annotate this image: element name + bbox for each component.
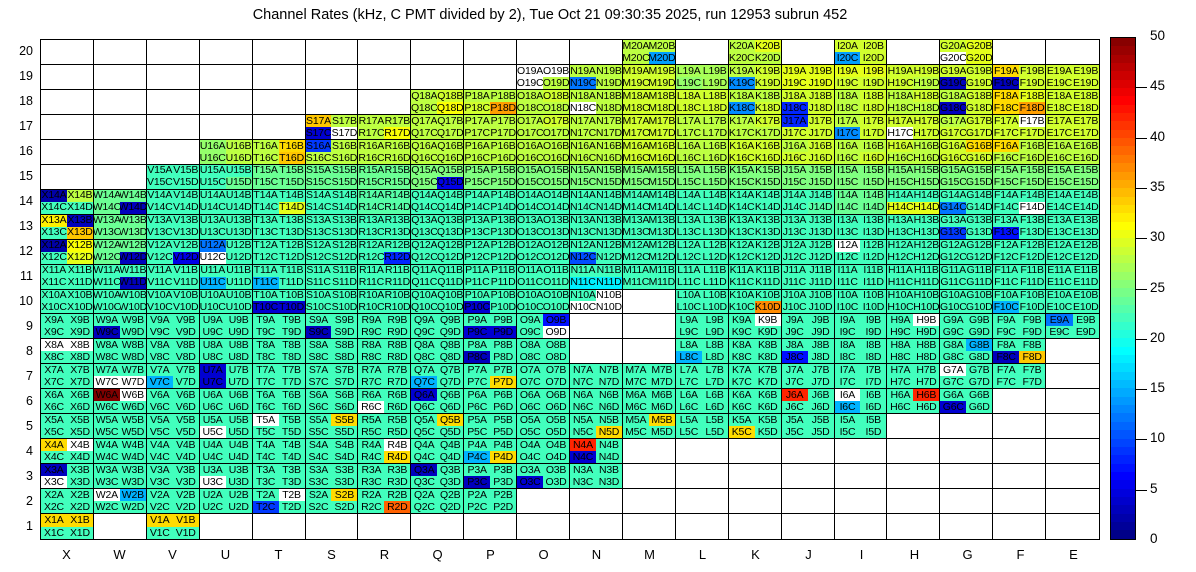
channel-O7A: O7A	[517, 364, 543, 376]
x-axis-label-O: O	[517, 547, 570, 562]
channel-P9B: P9B	[490, 314, 516, 326]
channel-U3C: U3C	[200, 476, 226, 488]
channel-empty	[676, 476, 702, 488]
channel-Q8D: Q8D	[437, 351, 463, 363]
heatmap-cell-K3	[729, 464, 782, 489]
channel-T15C: T15C	[253, 177, 279, 189]
heatmap-cell-S13: S13AS13BS13CS13D	[306, 215, 359, 240]
channel-M15B: M15B	[649, 165, 675, 177]
heatmap-cell-K14: K14AK14BK14CK14D	[729, 190, 782, 215]
channel-empty	[729, 489, 755, 501]
heatmap-cell-S10: S10AS10BS10CS10D	[306, 290, 359, 315]
heatmap-cell-P20	[464, 40, 517, 65]
channel-U13A: U13A	[200, 215, 226, 227]
channel-empty	[1073, 339, 1099, 351]
channel-K11C: K11C	[729, 277, 755, 289]
channel-T4A: T4A	[253, 439, 279, 451]
channel-G14D: G14D	[966, 202, 992, 214]
channel-empty	[993, 439, 1019, 451]
channel-K10A: K10A	[729, 290, 755, 302]
channel-empty	[358, 65, 384, 77]
colorbar-tick-mark	[1136, 439, 1147, 440]
channel-empty	[94, 52, 120, 64]
heatmap-cell-M19: M19AM19BM19CM19D	[623, 65, 676, 90]
heatmap-cell-S7: S7AS7BS7CS7D	[306, 364, 359, 389]
channel-G11D: G11D	[966, 277, 992, 289]
channel-empty	[808, 52, 834, 64]
heatmap-cell-X4: X4AX4BX4CX4D	[41, 439, 94, 464]
channel-F17C: F17C	[993, 127, 1019, 139]
channel-R5D: R5D	[384, 426, 410, 438]
heatmap-cell-J12: J12AJ12BJ12CJ12D	[782, 240, 835, 265]
channel-empty	[993, 527, 1019, 539]
channel-T16D: T16D	[279, 152, 305, 164]
channel-W4B: W4B	[120, 439, 146, 451]
channel-I8C: I8C	[835, 351, 861, 363]
heatmap-cell-Q7: Q7AQ7BQ7CQ7D	[411, 364, 464, 389]
channel-empty	[200, 40, 226, 52]
heatmap-cell-M6: M6AM6BM6CM6D	[623, 389, 676, 414]
channel-J12A: J12A	[782, 240, 808, 252]
channel-K5B: K5B	[755, 414, 781, 426]
channel-S13C: S13C	[306, 227, 332, 239]
channel-U6C: U6C	[200, 401, 226, 413]
channel-O15B: O15B	[543, 165, 569, 177]
channel-empty	[913, 52, 939, 64]
channel-W8D: W8D	[120, 351, 146, 363]
heatmap-cell-T15: T15AT15BT15CT15D	[253, 165, 306, 190]
channel-R14B: R14B	[384, 190, 410, 202]
channel-empty	[887, 52, 913, 64]
channel-H13D: H13D	[913, 227, 939, 239]
channel-empty	[702, 464, 728, 476]
channel-R10B: R10B	[384, 290, 410, 302]
channel-W14D: W14D	[120, 202, 146, 214]
channel-J5C: J5C	[782, 426, 808, 438]
channel-F14D: F14D	[1019, 202, 1045, 214]
channel-empty	[676, 451, 702, 463]
heatmap-cell-W15	[94, 165, 147, 190]
channel-U9D: U9D	[226, 326, 252, 338]
heatmap-cell-H15: H15AH15BH15CH15D	[887, 165, 940, 190]
channel-N12A: N12A	[570, 240, 596, 252]
channel-empty	[808, 489, 834, 501]
heatmap-cell-J2	[782, 489, 835, 514]
channel-empty	[808, 451, 834, 463]
channel-X3B: X3B	[67, 464, 93, 476]
channel-P7C: P7C	[464, 376, 490, 388]
channel-empty	[966, 439, 992, 451]
x-axis-label-K: K	[729, 547, 782, 562]
channel-X2B: X2B	[67, 489, 93, 501]
channel-U10B: U10B	[226, 290, 252, 302]
channel-J13A: J13A	[782, 215, 808, 227]
channel-empty	[702, 40, 728, 52]
channel-empty	[1073, 376, 1099, 388]
channel-H8D: H8D	[913, 351, 939, 363]
channel-empty	[1073, 439, 1099, 451]
channel-empty	[173, 127, 199, 139]
channel-empty	[358, 52, 384, 64]
heatmap-cell-F4	[993, 439, 1046, 464]
heatmap-cell-I7: I7AI7BI7CI7D	[835, 364, 888, 389]
heatmap-cell-T14: T14AT14BT14CT14D	[253, 190, 306, 215]
channel-S2D: S2D	[331, 501, 357, 513]
channel-L5B: L5B	[702, 414, 728, 426]
heatmap-cell-G11: G11AG11BG11CG11D	[940, 265, 993, 290]
channel-U5D: U5D	[226, 426, 252, 438]
heatmap-cell-I14: I14AI14BI14CI14D	[835, 190, 888, 215]
channel-empty	[940, 451, 966, 463]
channel-empty	[67, 127, 93, 139]
channel-empty	[940, 476, 966, 488]
y-axis-label-4: 4	[0, 444, 33, 458]
channel-R5C: R5C	[358, 426, 384, 438]
channel-R4A: R4A	[358, 439, 384, 451]
channel-empty	[41, 65, 67, 77]
channel-E17C: E17C	[1046, 127, 1072, 139]
channel-R17A: R17A	[358, 115, 384, 127]
heatmap-cell-W13: W13AW13BW13CW13D	[94, 215, 147, 240]
channel-M20A: M20A	[623, 40, 649, 52]
channel-J7A: J7A	[782, 364, 808, 376]
channel-empty	[596, 52, 622, 64]
channel-K19C: K19C	[729, 77, 755, 89]
channel-empty	[226, 77, 252, 89]
heatmap-cell-W11: W11AW11BW11CW11D	[94, 265, 147, 290]
channel-G6B: G6B	[966, 389, 992, 401]
channel-empty	[649, 439, 675, 451]
channel-J10B: J10B	[808, 290, 834, 302]
channel-R12C: R12C	[358, 252, 384, 264]
channel-N12C: N12C	[570, 252, 596, 264]
channel-I13D: I13D	[860, 227, 886, 239]
channel-F16D: F16D	[1019, 152, 1045, 164]
heatmap-cell-H7: H7AH7BH7CH7D	[887, 364, 940, 389]
channel-I16C: I16C	[835, 152, 861, 164]
channel-Q7A: Q7A	[411, 364, 437, 376]
y-axis-label-12: 12	[0, 244, 33, 258]
channel-empty	[887, 527, 913, 539]
channel-G19A: G19A	[940, 65, 966, 77]
channel-L10A: L10A	[676, 290, 702, 302]
heatmap-cell-L13: L13AL13BL13CL13D	[676, 215, 729, 240]
channel-J7C: J7C	[782, 376, 808, 388]
y-axis-label-16: 16	[0, 144, 33, 158]
channel-Q16C: Q16C	[411, 152, 437, 164]
channel-O8A: O8A	[517, 339, 543, 351]
channel-T7B: T7B	[279, 364, 305, 376]
channel-U10D: U10D	[226, 301, 252, 313]
channel-M17A: M17A	[623, 115, 649, 127]
channel-K6A: K6A	[729, 389, 755, 401]
channel-empty	[358, 90, 384, 102]
channel-O18D: O18D	[543, 102, 569, 114]
channel-V13D: V13D	[173, 227, 199, 239]
channel-K7D: K7D	[755, 376, 781, 388]
heatmap-cell-P16: P16AP16BP16CP16D	[464, 140, 517, 165]
heatmap-cell-H16: H16AH16BH16CH16D	[887, 140, 940, 165]
channel-P11B: P11B	[490, 265, 516, 277]
channel-Q11B: Q11B	[437, 265, 463, 277]
channel-R3B: R3B	[384, 464, 410, 476]
channel-F19D: F19D	[1019, 77, 1045, 89]
channel-empty	[940, 527, 966, 539]
channel-O19B: O19B	[543, 65, 569, 77]
channel-I11C: I11C	[835, 277, 861, 289]
heatmap-cell-J5: J5AJ5BJ5CJ5D	[782, 414, 835, 439]
channel-I10B: I10B	[860, 290, 886, 302]
heatmap-cell-E8	[1046, 339, 1099, 364]
channel-empty	[993, 489, 1019, 501]
channel-empty	[67, 40, 93, 52]
channel-empty	[993, 40, 1019, 52]
channel-I16D: I16D	[860, 152, 886, 164]
heatmap-cell-S16: S16AS16BS16CS16D	[306, 140, 359, 165]
channel-P2B: P2B	[490, 489, 516, 501]
channel-G19C: G19C	[940, 77, 966, 89]
channel-X5A: X5A	[41, 414, 67, 426]
y-axis-label-8: 8	[0, 344, 33, 358]
channel-H19D: H19D	[913, 77, 939, 89]
heatmap-cell-U12: U12AU12BU12CU12D	[200, 240, 253, 265]
heatmap-cell-X1: X1AX1BX1CX1D	[41, 514, 94, 539]
channel-empty	[120, 40, 146, 52]
channel-V3C: V3C	[147, 476, 173, 488]
channel-E15A: E15A	[1046, 165, 1072, 177]
channel-empty	[940, 501, 966, 513]
channel-L6D: L6D	[702, 401, 728, 413]
channel-U16D: U16D	[226, 152, 252, 164]
channel-T12C: T12C	[253, 252, 279, 264]
channel-I6B: I6B	[860, 389, 886, 401]
channel-empty	[755, 489, 781, 501]
channel-L13A: L13A	[676, 215, 702, 227]
channel-U3A: U3A	[200, 464, 226, 476]
channel-J10C: J10C	[782, 301, 808, 313]
channel-P15B: P15B	[490, 165, 516, 177]
channel-J8B: J8B	[808, 339, 834, 351]
channel-X11D: X11D	[67, 277, 93, 289]
channel-empty	[1073, 389, 1099, 401]
channel-P13A: P13A	[464, 215, 490, 227]
channel-X14A: X14A	[41, 190, 67, 202]
channel-N10A: N10A	[570, 290, 596, 302]
channel-U16A: U16A	[200, 140, 226, 152]
channel-P11D: P11D	[490, 277, 516, 289]
channel-U12A: U12A	[200, 240, 226, 252]
channel-empty	[226, 127, 252, 139]
channel-U11C: U11C	[200, 277, 226, 289]
channel-empty	[279, 65, 305, 77]
channel-Q2A: Q2A	[411, 489, 437, 501]
heatmap-cell-W3: W3AW3BW3CW3D	[94, 464, 147, 489]
channel-empty	[649, 314, 675, 326]
channel-T7A: T7A	[253, 364, 279, 376]
channel-L15C: L15C	[676, 177, 702, 189]
channel-R2D: R2D	[384, 501, 410, 513]
heatmap-cell-X2: X2AX2BX2CX2D	[41, 489, 94, 514]
channel-Q10D: Q10D	[437, 301, 463, 313]
channel-E10D: E10D	[1073, 301, 1099, 313]
heatmap-cell-Q13: Q13AQ13BQ13CQ13D	[411, 215, 464, 240]
channel-U11A: U11A	[200, 265, 226, 277]
channel-empty	[543, 501, 569, 513]
heatmap-cell-J4	[782, 439, 835, 464]
channel-F8A: F8A	[993, 339, 1019, 351]
channel-N16C: N16C	[570, 152, 596, 164]
channel-empty	[464, 77, 490, 89]
heatmap-cell-G20: G20AG20BG20CG20D	[940, 40, 993, 65]
channel-R15C: R15C	[358, 177, 384, 189]
channel-T2D: T2D	[279, 501, 305, 513]
channel-empty	[755, 501, 781, 513]
channel-U13B: U13B	[226, 215, 252, 227]
channel-T5C: T5C	[253, 426, 279, 438]
heatmap-cell-T4: T4AT4BT4CT4D	[253, 439, 306, 464]
channel-empty	[782, 439, 808, 451]
channel-O8C: O8C	[517, 351, 543, 363]
channel-P10A: P10A	[464, 290, 490, 302]
channel-empty	[808, 464, 834, 476]
channel-empty	[173, 52, 199, 64]
channel-U6D: U6D	[226, 401, 252, 413]
channel-T10C: T10C	[253, 301, 279, 313]
channel-M18C: M18C	[623, 102, 649, 114]
channel-U5A: U5A	[200, 414, 226, 426]
channel-O17A: O17A	[517, 115, 543, 127]
channel-O8B: O8B	[543, 339, 569, 351]
channel-J8D: J8D	[808, 351, 834, 363]
heatmap-cell-R1	[358, 514, 411, 539]
heatmap-cell-N12: N12AN12BN12CN12D	[570, 240, 623, 265]
channel-W13D: W13D	[120, 227, 146, 239]
channel-G14A: G14A	[940, 190, 966, 202]
channel-I15C: I15C	[835, 177, 861, 189]
channel-I13B: I13B	[860, 215, 886, 227]
x-axis-label-H: H	[888, 547, 941, 562]
channel-empty	[200, 127, 226, 139]
channel-I5A: I5A	[835, 414, 861, 426]
channel-V3B: V3B	[173, 464, 199, 476]
channel-V13C: V13C	[147, 227, 173, 239]
channel-W4C: W4C	[94, 451, 120, 463]
channel-N6C: N6C	[570, 401, 596, 413]
channel-F12A: F12A	[993, 240, 1019, 252]
channel-empty	[1019, 426, 1045, 438]
channel-F17B: F17B	[1019, 115, 1045, 127]
channel-T2C: T2C	[253, 501, 279, 513]
channel-X13D: X13D	[67, 227, 93, 239]
heatmap-cell-S19	[306, 65, 359, 90]
channel-M18B: M18B	[649, 90, 675, 102]
channel-H19B: H19B	[913, 65, 939, 77]
channel-N3B: N3B	[596, 464, 622, 476]
heatmap-cell-U13: U13AU13BU13CU13D	[200, 215, 253, 240]
channel-J6C: J6C	[782, 401, 808, 413]
channel-empty	[887, 489, 913, 501]
heatmap-cell-L2	[676, 489, 729, 514]
channel-P18A: P18A	[464, 90, 490, 102]
heatmap-cell-I20: I20AI20BI20CI20D	[835, 40, 888, 65]
channel-empty	[913, 476, 939, 488]
channel-E18A: E18A	[1046, 90, 1072, 102]
channel-empty	[147, 52, 173, 64]
heatmap-cell-J13: J13AJ13BJ13CJ13D	[782, 215, 835, 240]
channel-W2C: W2C	[94, 501, 120, 513]
channel-F8C: F8C	[993, 351, 1019, 363]
channel-empty	[623, 476, 649, 488]
channel-T11B: T11B	[279, 265, 305, 277]
y-axis-label-20: 20	[0, 44, 33, 58]
channel-K12C: K12C	[729, 252, 755, 264]
heatmap-cell-W4: W4AW4BW4CW4D	[94, 439, 147, 464]
y-axis-label-1: 1	[0, 519, 33, 533]
channel-R16C: R16C	[358, 152, 384, 164]
channel-G15D: G15D	[966, 177, 992, 189]
heatmap-cell-L12: L12AL12BL12CL12D	[676, 240, 729, 265]
channel-empty	[570, 314, 596, 326]
channel-empty	[966, 514, 992, 526]
channel-I16B: I16B	[860, 140, 886, 152]
y-axis-label-5: 5	[0, 419, 33, 433]
heatmap-cell-N14: N14AN14BN14CN14D	[570, 190, 623, 215]
channel-T4C: T4C	[253, 451, 279, 463]
channel-H16B: H16B	[913, 140, 939, 152]
channel-empty	[702, 451, 728, 463]
channel-H11C: H11C	[887, 277, 913, 289]
channel-E12B: E12B	[1073, 240, 1099, 252]
channel-J9C: J9C	[782, 326, 808, 338]
channel-I10D: I10D	[860, 301, 886, 313]
channel-P4C: P4C	[464, 451, 490, 463]
y-axis-label-15: 15	[0, 169, 33, 183]
channel-R10C: R10C	[358, 301, 384, 313]
channel-K11B: K11B	[755, 265, 781, 277]
channel-G13A: G13A	[940, 215, 966, 227]
channel-R12D: R12D	[384, 252, 410, 264]
channel-empty	[623, 290, 649, 302]
channel-Q10B: Q10B	[437, 290, 463, 302]
channel-K16D: K16D	[755, 152, 781, 164]
heatmap-cell-K20: K20AK20BK20CK20D	[729, 40, 782, 65]
channel-U13C: U13C	[200, 227, 226, 239]
channel-empty	[358, 77, 384, 89]
channel-J19A: J19A	[782, 65, 808, 77]
channel-empty	[1019, 414, 1045, 426]
channel-H9A: H9A	[887, 314, 913, 326]
channel-Q2C: Q2C	[411, 501, 437, 513]
channel-empty	[94, 77, 120, 89]
channel-R8C: R8C	[358, 351, 384, 363]
channel-N4C: N4C	[570, 451, 596, 463]
channel-empty	[808, 514, 834, 526]
channel-empty	[835, 464, 861, 476]
channel-S16A: S16A	[306, 140, 332, 152]
heatmap-cell-P1	[464, 514, 517, 539]
channel-N15A: N15A	[570, 165, 596, 177]
heatmap-cell-S20	[306, 40, 359, 65]
channel-V11D: V11D	[173, 277, 199, 289]
channel-L10D: L10D	[702, 301, 728, 313]
channel-N16A: N16A	[570, 140, 596, 152]
channel-empty	[1046, 451, 1072, 463]
channel-F18C: F18C	[993, 102, 1019, 114]
channel-W12A: W12A	[94, 240, 120, 252]
channel-O4D: O4D	[543, 451, 569, 463]
channel-G18B: G18B	[966, 90, 992, 102]
heatmap-cell-Q9: Q9AQ9BQ9CQ9D	[411, 314, 464, 339]
